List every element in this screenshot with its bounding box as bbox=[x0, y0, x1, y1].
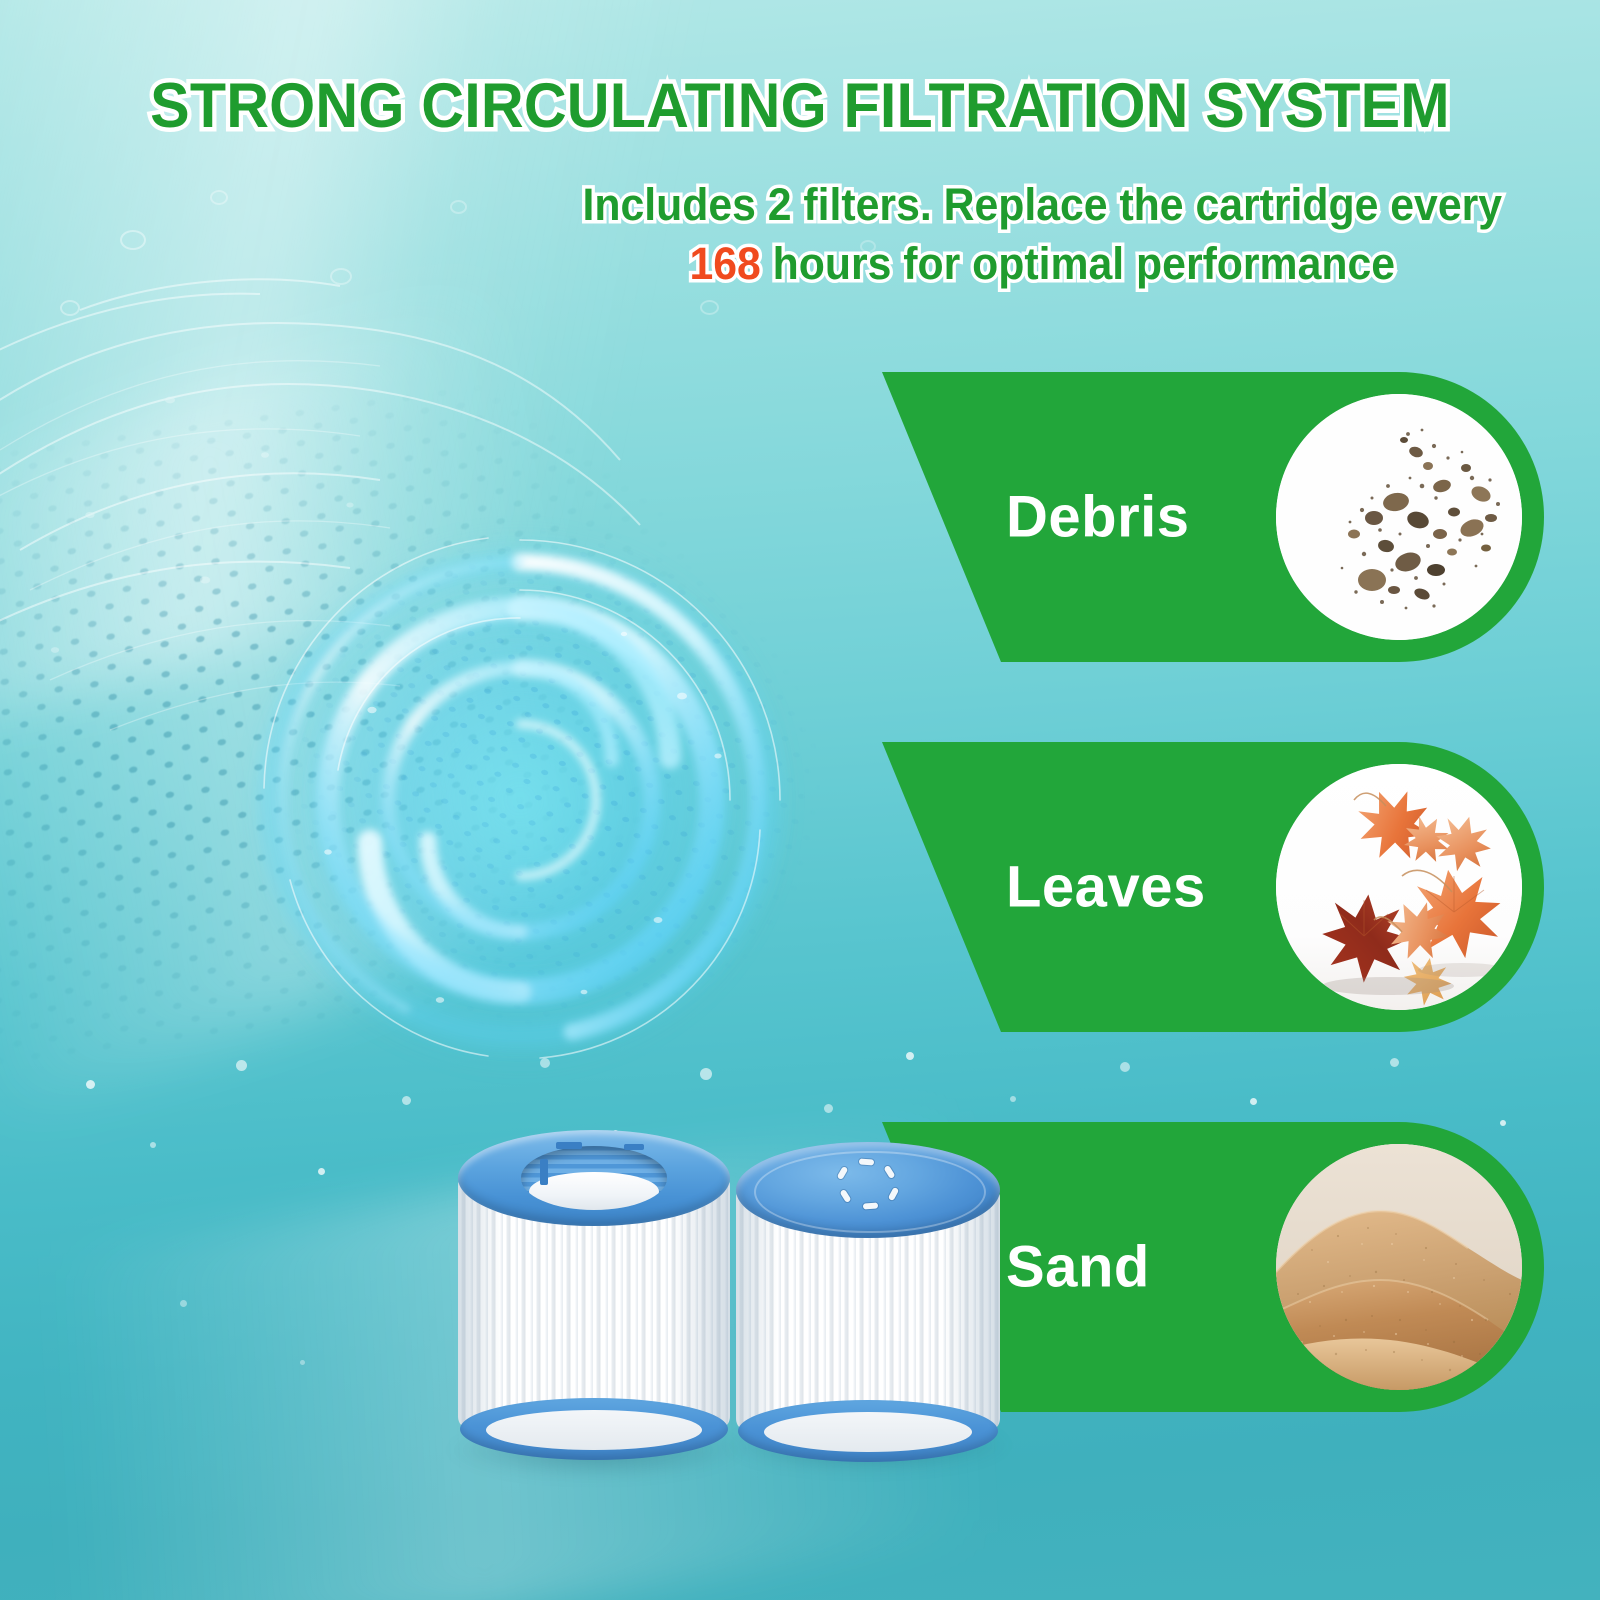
filter-cartridge-open-top bbox=[458, 1130, 730, 1460]
badge-label-leaves: Leaves bbox=[1006, 854, 1206, 921]
cartridge-top-ring bbox=[458, 1130, 730, 1226]
poster-title: STRONG CIRCULATING FILTRATION SYSTEM bbox=[48, 74, 1552, 138]
subtitle-line-1: Includes 2 filters. Replace the cartridg… bbox=[582, 179, 1502, 230]
debris-photo bbox=[1276, 394, 1522, 640]
cartridge-lid bbox=[736, 1142, 1000, 1238]
cartridge-bottom-cap bbox=[738, 1400, 998, 1462]
badge-label-sand: Sand bbox=[1006, 1234, 1150, 1301]
sand-photo bbox=[1276, 1144, 1522, 1390]
leaves-photo bbox=[1276, 764, 1522, 1010]
filter-cartridges-group bbox=[440, 1120, 1020, 1520]
feature-badge-leaves: Leaves bbox=[846, 742, 1544, 1032]
filter-cartridge-closed-lid bbox=[736, 1142, 1000, 1462]
lid-vent-slots bbox=[831, 1159, 905, 1213]
subtitle-line-2-tail: hours for optimal performance bbox=[761, 238, 1395, 289]
poster-subtitle: Includes 2 filters. Replace the cartridg… bbox=[563, 176, 1523, 293]
cartridge-bottom-cap bbox=[460, 1398, 728, 1460]
replacement-hours-value: 168 bbox=[689, 238, 760, 289]
feature-badge-debris: Debris bbox=[846, 372, 1544, 662]
product-feature-poster: STRONG CIRCULATING FILTRATION SYSTEM Inc… bbox=[0, 0, 1600, 1600]
badge-label-debris: Debris bbox=[1006, 484, 1190, 551]
